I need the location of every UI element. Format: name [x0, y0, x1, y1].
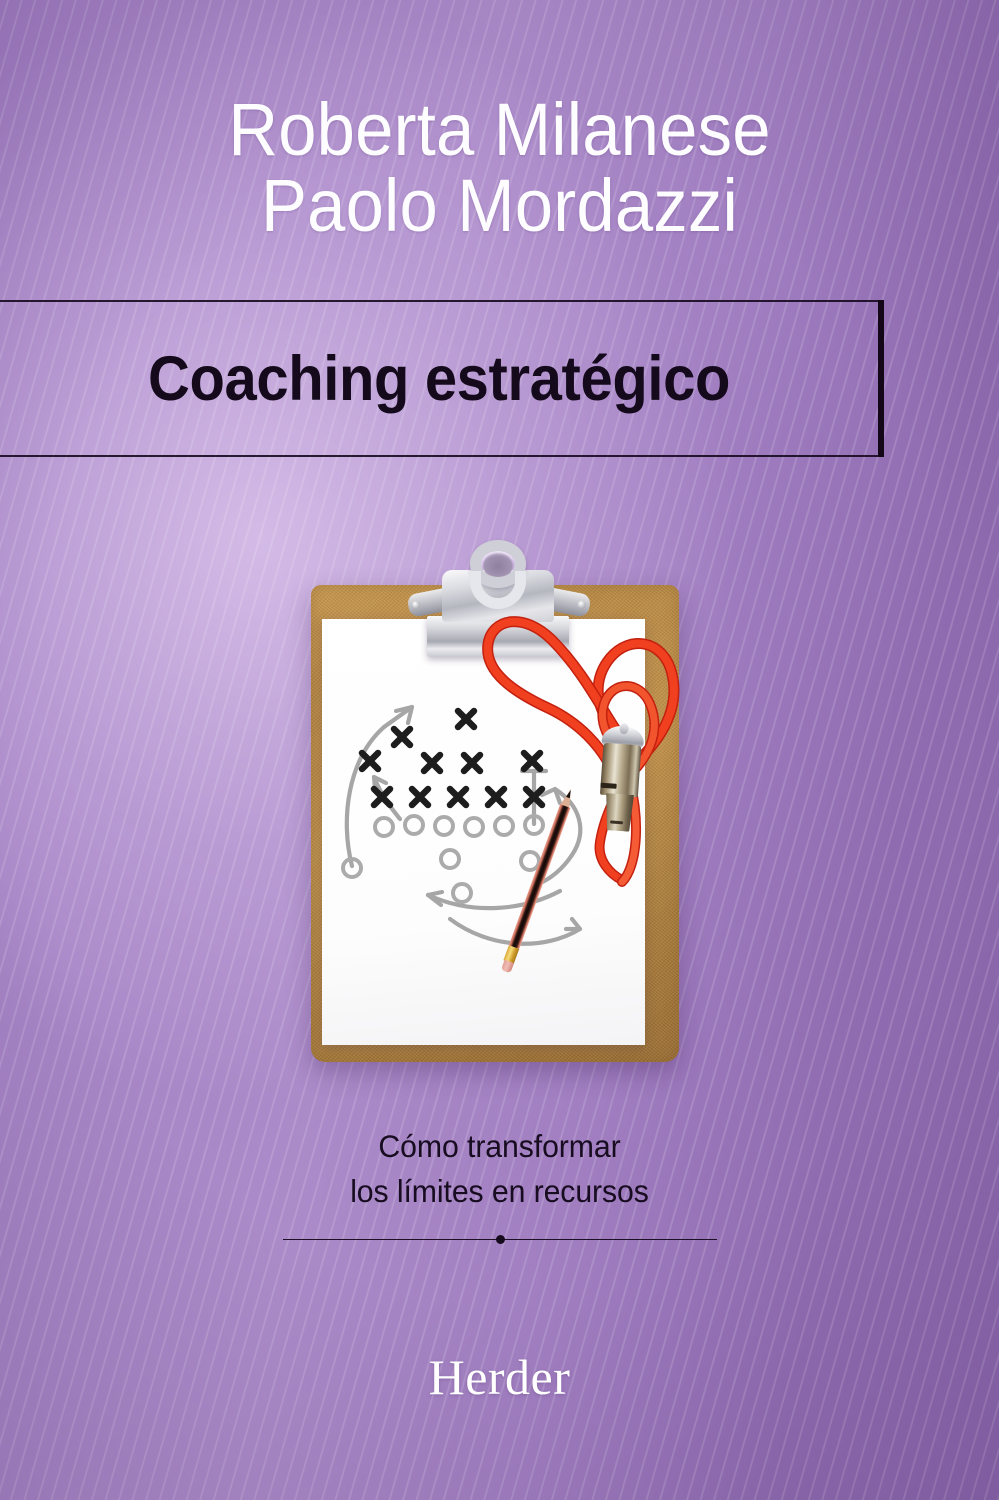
author-line-1: Roberta Milanese	[35, 92, 964, 168]
whistle-barrel	[600, 743, 642, 798]
coach-whistle	[593, 725, 646, 836]
subtitle-line-2: los límites en recursos	[20, 1169, 979, 1214]
subtitle-line-1: Cómo transformar	[20, 1124, 979, 1169]
whistle-mouthpiece	[602, 793, 634, 832]
page-title: Coaching estratégico	[35, 302, 843, 455]
title-rule-right	[878, 300, 884, 457]
author-line-2: Paolo Mordazzi	[35, 168, 964, 244]
subtitle: Cómo transformar los límites en recursos	[20, 1124, 979, 1213]
subtitle-divider-dot	[496, 1235, 505, 1244]
title-rule-bottom	[0, 455, 884, 457]
authors: Roberta Milanese Paolo Mordazzi	[35, 92, 964, 244]
cover-photo-clipboard	[300, 530, 700, 1090]
book-cover: Roberta Milanese Paolo Mordazzi Coaching…	[0, 0, 999, 1500]
publisher-logo: Herder	[0, 1348, 999, 1406]
whistle-slot	[600, 783, 616, 789]
